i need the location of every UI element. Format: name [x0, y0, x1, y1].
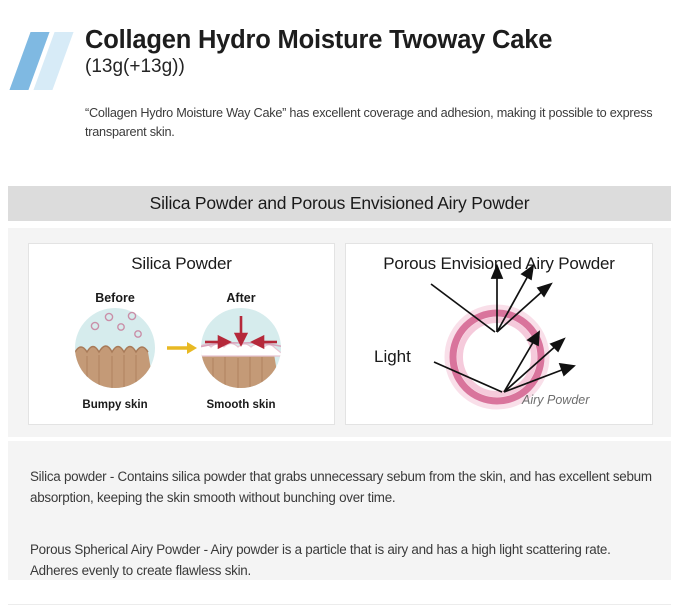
light-label-text: Light: [374, 347, 411, 366]
silica-illustration: [29, 244, 334, 424]
yellow-right-arrow-icon: [167, 342, 197, 354]
after-caption: Smooth skin: [181, 399, 301, 411]
silica-powder-panel: Silica Powder Before After: [28, 243, 335, 425]
airy-powder-paragraph: Porous Spherical Airy Powder - Airy powd…: [30, 540, 655, 581]
section-banner-title: Silica Powder and Porous Envisioned Airy…: [8, 186, 671, 221]
airy-powder-panel: Porous Envisioned Airy Powder: [345, 243, 653, 425]
page-title: Collagen Hydro Moisture Twoway Cake: [85, 26, 665, 55]
airy-powder-label-text: Airy Powder: [521, 393, 590, 407]
product-description-page: Collagen Hydro Moisture Twoway Cake (13g…: [0, 0, 679, 613]
light-scattering-illustration: Light Airy Powder: [346, 244, 652, 424]
section-banner: Silica Powder and Porous Envisioned Airy…: [8, 186, 671, 221]
product-weight: (13g(+13g)): [85, 56, 665, 78]
after-skin-circle: [199, 308, 285, 396]
body-text-section: Silica powder - Contains silica powder t…: [8, 441, 671, 580]
silica-paragraph: Silica powder - Contains silica powder t…: [30, 467, 655, 508]
before-caption: Bumpy skin: [55, 399, 175, 411]
title-block: Collagen Hydro Moisture Twoway Cake (13g…: [85, 26, 665, 77]
before-skin-circle: [75, 308, 155, 394]
double-slash-logo-icon: [14, 32, 74, 90]
diagram-strip: Silica Powder Before After: [8, 228, 671, 437]
footer-divider: [8, 604, 671, 605]
product-description: “Collagen Hydro Moisture Way Cake” has e…: [85, 104, 665, 142]
